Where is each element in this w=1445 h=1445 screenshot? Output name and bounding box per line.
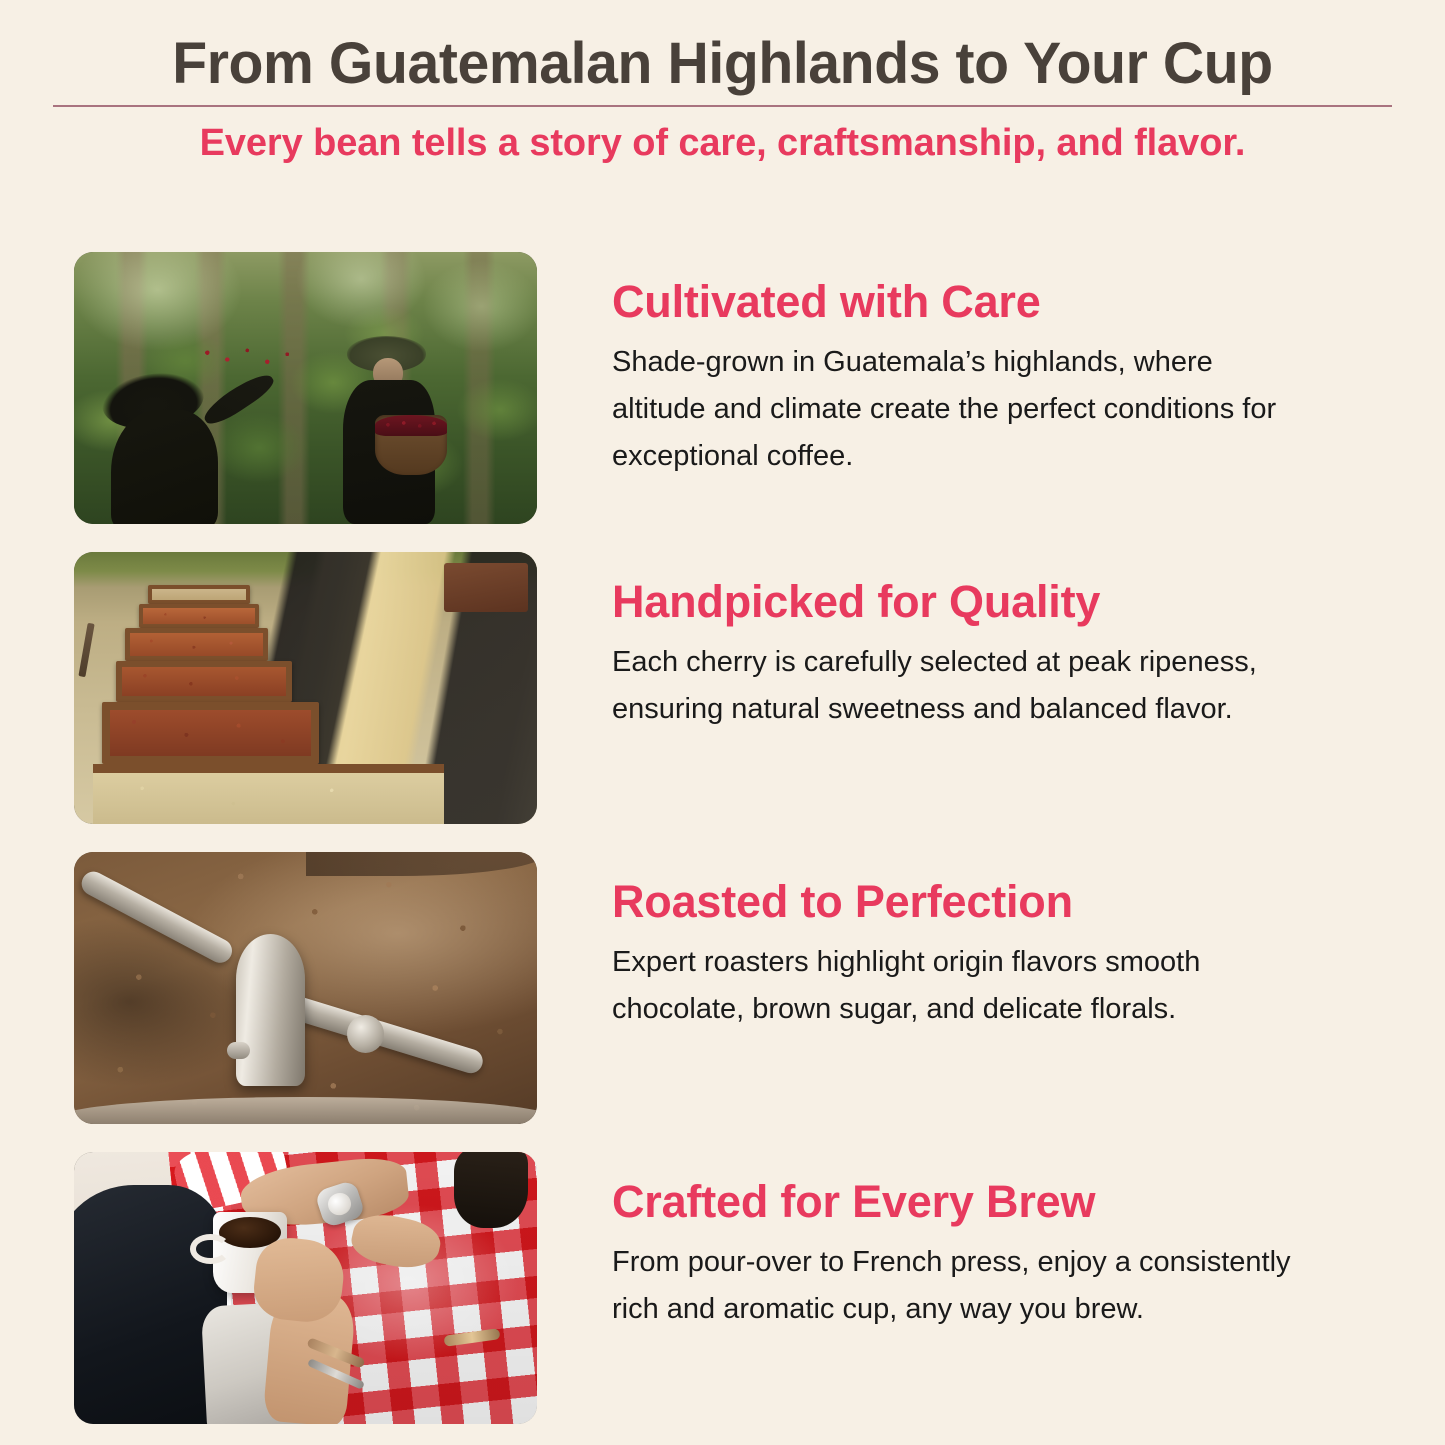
section-body-text: Expert roasters highlight origin flavors… (612, 939, 1302, 1033)
stirring-hub (236, 934, 305, 1086)
section-image-coffee-farm (74, 252, 537, 524)
section-copy: Crafted for Every Brew From pour-over to… (612, 1152, 1312, 1333)
section-body-text: Each cherry is carefully selected at pea… (612, 639, 1302, 733)
section-heading: Handpicked for Quality (612, 578, 1312, 625)
coffee-farm-illustration (74, 252, 537, 524)
section-crafted-for-every-brew: Crafted for Every Brew From pour-over to… (0, 1152, 1445, 1424)
section-heading: Roasted to Perfection (612, 878, 1312, 925)
hub-bolt (227, 1042, 250, 1058)
drying-bed (116, 661, 292, 702)
section-copy: Handpicked for Quality Each cherry is ca… (612, 552, 1312, 733)
dark-jacket (74, 1185, 227, 1424)
coffee-story-infographic: From Guatemalan Highlands to Your Cup Ev… (0, 0, 1445, 1445)
drying-bed (139, 604, 259, 628)
section-image-coffee-mug (74, 1152, 537, 1424)
basket-cherries (375, 415, 447, 435)
mug-handle (190, 1234, 232, 1264)
person-hair (454, 1152, 528, 1228)
section-cultivated-with-care: Cultivated with Care Shade-grown in Guat… (0, 252, 1445, 552)
farmer-left-arm (200, 368, 277, 430)
drying-beds-illustration (74, 552, 537, 824)
rake-tool-icon (79, 622, 96, 677)
section-image-drying-beds (74, 552, 537, 824)
page-subtitle: Every bean tells a story of care, crafts… (53, 123, 1392, 165)
farm-shed (444, 563, 527, 612)
farmer-left-body (111, 410, 217, 524)
drying-bed (102, 702, 320, 765)
coffee-cherries-on-branch (194, 339, 305, 377)
stirring-arm-upper (78, 867, 237, 967)
section-heading: Cultivated with Care (612, 278, 1312, 325)
drum-wall (306, 852, 538, 876)
section-body-text: From pour-over to French press, enjoy a … (612, 1239, 1302, 1333)
parchment-bean-patio (93, 764, 445, 824)
section-handpicked-for-quality: Handpicked for Quality Each cherry is ca… (0, 552, 1445, 852)
stirring-arm-lower (283, 994, 485, 1077)
roasting-drum-illustration (74, 852, 537, 1124)
section-list: Cultivated with Care Shade-grown in Guat… (0, 252, 1445, 1424)
header: From Guatemalan Highlands to Your Cup Ev… (53, 34, 1392, 165)
watch-face (326, 1190, 355, 1217)
header-divider (53, 105, 1392, 107)
section-image-coffee-roaster (74, 852, 537, 1124)
section-body-text: Shade-grown in Guatemala’s highlands, wh… (612, 339, 1302, 480)
page-title: From Guatemalan Highlands to Your Cup (63, 34, 1382, 93)
section-heading: Crafted for Every Brew (612, 1178, 1312, 1225)
section-copy: Roasted to Perfection Expert roasters hi… (612, 852, 1312, 1033)
coffee-enjoyment-illustration (74, 1152, 537, 1424)
drying-bed (148, 585, 250, 604)
drum-rim (74, 1097, 537, 1124)
arm-joint (347, 1015, 384, 1053)
section-roasted-to-perfection: Roasted to Perfection Expert roasters hi… (0, 852, 1445, 1152)
harvest-basket-icon (375, 415, 447, 475)
section-copy: Cultivated with Care Shade-grown in Guat… (612, 252, 1312, 480)
drying-bed (125, 628, 269, 661)
